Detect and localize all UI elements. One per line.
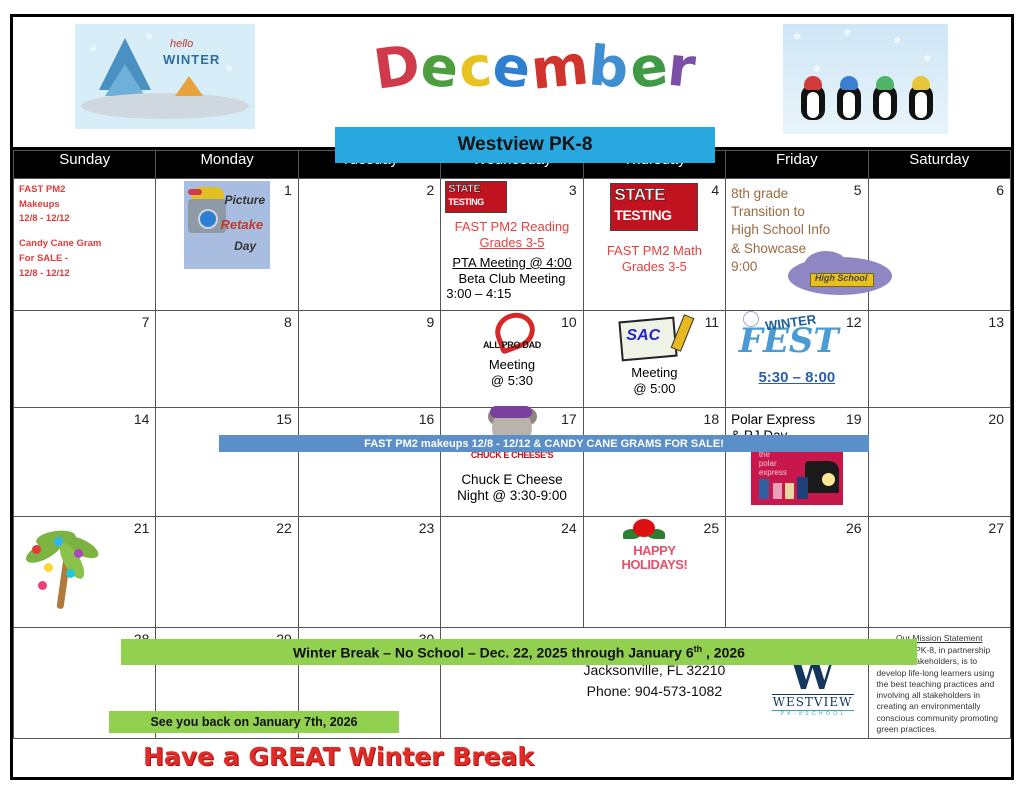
day-number: 11	[705, 314, 720, 330]
calendar-banner: hello WINTER ✳ ✳ ✳ December ❄ ❄ ❄ ❄ ❄	[13, 17, 1011, 150]
hello-winter-text-2: WINTER	[163, 52, 220, 67]
day-number: 9	[426, 314, 434, 330]
event-sac-meeting: Meeting	[589, 365, 720, 381]
day-cell-4[interactable]: 4 STATE TESTING FAST PM2 Math Grades 3-5	[583, 179, 725, 311]
day-cell-5[interactable]: 5 8th grade Transition to High School In…	[726, 179, 868, 311]
day-number: 2	[426, 182, 434, 198]
state-testing-line1: STATE	[448, 183, 480, 195]
state-testing-icon: STATE TESTING	[445, 181, 507, 213]
event-beta-club: Beta Club Meeting	[446, 271, 577, 287]
have-a-great-winter-break-text: Have a GREAT Winter Break	[143, 742, 534, 771]
day-cell-15[interactable]: 15	[156, 408, 298, 517]
state-testing-line2: TESTING	[448, 197, 484, 207]
day-cell-3[interactable]: 3 STATE TESTING FAST PM2 Reading Grades …	[441, 179, 583, 311]
sac-label: SAC	[626, 327, 660, 345]
day-number: 15	[276, 411, 292, 427]
state-testing-line1: STATE	[614, 185, 665, 205]
weekday-friday: Friday	[726, 151, 868, 179]
event-fast-reading-grades: Grades 3-5	[446, 235, 577, 251]
high-school-label: High School	[810, 273, 872, 283]
westview-logo-sub: P K - 8 S C H O O L	[772, 710, 854, 717]
day-cell-1[interactable]: 1 Picture Retake Day	[156, 179, 298, 311]
day-number: 18	[704, 411, 720, 427]
week-row-3: 14 15 16 17 CHUCK E CHEESE'S Chuck E Che…	[14, 408, 1011, 517]
day-cell-26[interactable]: 26	[726, 517, 868, 628]
week-row-4: 21 22	[14, 517, 1011, 628]
day-number: 13	[988, 314, 1004, 330]
day-number: 10	[561, 314, 577, 330]
weekday-sunday: Sunday	[14, 151, 156, 179]
weekday-saturday: Saturday	[868, 151, 1010, 179]
event-8th-grade-line3: High School Info	[731, 221, 862, 239]
day-number: 5	[854, 182, 862, 198]
happy-holidays-clipart: HAPPY HOLIDAYS!	[599, 517, 709, 579]
day-number: 3	[569, 182, 577, 198]
decorated-palm-tree-clipart	[20, 519, 106, 611]
day-number: 22	[276, 520, 292, 536]
day-number: 7	[142, 314, 150, 330]
day-cell-20[interactable]: 20	[868, 408, 1010, 517]
winter-fest-logo: FEST WINTER	[737, 311, 857, 369]
day-number: 4	[711, 182, 719, 198]
hello-winter-text-1: hello	[170, 38, 193, 50]
event-8th-grade-line1: 8th grade	[731, 185, 862, 203]
event-cec-line2: Night @ 3:30-9:00	[446, 488, 577, 504]
day-cell-13[interactable]: 13	[868, 311, 1010, 408]
green-banner-text: Winter Break – No School – Dec. 22, 2025…	[293, 644, 745, 661]
day-cell-6[interactable]: 6	[868, 179, 1010, 311]
day-number: 1	[284, 182, 292, 198]
event-pta-meeting: PTA Meeting @ 4:00	[446, 255, 577, 271]
day-number: 26	[846, 520, 862, 536]
day-number: 27	[988, 520, 1004, 536]
day-cell-notes[interactable]: FAST PM2 Makeups 12/8 - 12/12 Candy Cane…	[14, 179, 156, 311]
school-name-ribbon: Westview PK-8	[335, 127, 715, 163]
day-number: 8	[284, 314, 292, 330]
picday-line2: Retake	[220, 217, 263, 232]
day-number: 23	[419, 520, 435, 536]
december-title-art: December	[355, 35, 715, 130]
day-cell-19[interactable]: 19 Polar Express & PJ Day the polar expr…	[726, 408, 868, 517]
calendar-page: hello WINTER ✳ ✳ ✳ December ❄ ❄ ❄ ❄ ❄	[0, 0, 1024, 791]
day-cell-17[interactable]: 17 CHUCK E CHEESE'S Chuck E Cheese Night…	[441, 408, 583, 517]
sac-meeting-clipart: SAC	[618, 313, 690, 361]
day-cell-22[interactable]: 22	[156, 517, 298, 628]
day-cell-12[interactable]: 12 FEST WINTER 5:30 – 8:00	[726, 311, 868, 408]
week-row-1: FAST PM2 Makeups 12/8 - 12/12 Candy Cane…	[14, 179, 1011, 311]
all-pro-dad-icon: ALL PRO DAD	[477, 313, 547, 353]
penguins-clipart: ❄ ❄ ❄ ❄ ❄	[783, 24, 948, 134]
note-candy-line2: For SALE -	[19, 252, 150, 267]
day-cell-14[interactable]: 14	[14, 408, 156, 517]
day-cell-23[interactable]: 23	[298, 517, 440, 628]
note-fast-line3: 12/8 - 12/12	[19, 212, 150, 227]
event-fast-math: FAST PM2 Math	[589, 243, 720, 259]
event-beta-club-time: 3:00 – 4:15	[446, 286, 577, 302]
day-cell-8[interactable]: 8	[156, 311, 298, 408]
green-banner-return-date: See you back on January 7th, 2026	[109, 711, 399, 733]
all-pro-dad-label: ALL PRO DAD	[477, 340, 547, 350]
day-cell-9[interactable]: 9	[298, 311, 440, 408]
day-number: 16	[419, 411, 435, 427]
event-cec-line1: Chuck E Cheese	[446, 472, 577, 488]
note-fast-line1: FAST PM2	[19, 183, 150, 198]
day-cell-2[interactable]: 2	[298, 179, 440, 311]
note-fast-line2: Makeups	[19, 198, 150, 213]
westview-logo-name: WESTVIEW	[772, 694, 854, 709]
day-number: 6	[996, 182, 1004, 198]
picture-retake-day-clipart: Picture Retake Day	[184, 181, 270, 269]
day-cell-24[interactable]: 24	[441, 517, 583, 628]
day-cell-10[interactable]: 10 ALL PRO DAD Meeting @ 5:30	[441, 311, 583, 408]
note-candy-line3: 12/8 - 12/12	[19, 267, 150, 282]
weekday-monday: Monday	[156, 151, 298, 179]
picday-line3: Day	[234, 239, 256, 253]
day-cell-7[interactable]: 7	[14, 311, 156, 408]
day-number: 21	[134, 520, 150, 536]
polar-art-line3: express	[759, 468, 787, 477]
calendar-frame: hello WINTER ✳ ✳ ✳ December ❄ ❄ ❄ ❄ ❄	[10, 14, 1014, 780]
state-testing-line2: TESTING	[614, 207, 671, 223]
event-polar-line1: Polar Express	[731, 412, 843, 428]
event-winter-fest-time: 5:30 – 8:00	[758, 369, 835, 386]
day-number: 14	[134, 411, 150, 427]
day-cell-16[interactable]: 16	[298, 408, 440, 517]
happy-holidays-line1: HAPPY	[599, 543, 709, 558]
event-apd-meeting: Meeting	[446, 357, 577, 373]
green-banner-return-text: See you back on January 7th, 2026	[150, 715, 357, 729]
happy-holidays-line2: HOLIDAYS!	[599, 557, 709, 572]
note-candy-line1: Candy Cane Gram	[19, 237, 150, 252]
westview-logo: W WESTVIEW P K - 8 S C H O O L	[772, 658, 854, 732]
day-cell-11[interactable]: 11 SAC Meeting @ 5:00	[583, 311, 725, 408]
green-banner-winter-break: Winter Break – No School – Dec. 22, 2025…	[121, 639, 917, 665]
event-fast-reading: FAST PM2 Reading	[446, 219, 577, 235]
state-testing-icon: STATE TESTING	[610, 183, 698, 231]
event-fast-math-grades: Grades 3-5	[589, 259, 720, 275]
day-number: 19	[846, 411, 862, 427]
day-cell-18[interactable]: 18	[583, 408, 725, 517]
event-8th-grade-line2: Transition to	[731, 203, 862, 221]
polar-art-line2: polar	[759, 459, 777, 468]
school-name-text: Westview PK-8	[458, 134, 593, 156]
day-number: 17	[561, 411, 577, 427]
event-apd-time: @ 5:30	[446, 373, 577, 389]
day-cell-21[interactable]: 21	[14, 517, 156, 628]
blue-banner-text: FAST PM2 makeups 12/8 - 12/12 & CANDY CA…	[364, 438, 724, 450]
picday-line1: Picture	[224, 193, 265, 207]
polar-express-clipart: the polar express	[751, 445, 843, 505]
hello-winter-clipart: hello WINTER ✳ ✳ ✳	[75, 24, 255, 129]
event-sac-time: @ 5:00	[589, 381, 720, 397]
blue-banner-fast-makeups: FAST PM2 makeups 12/8 - 12/12 & CANDY CA…	[219, 435, 869, 452]
day-number: 20	[988, 411, 1004, 427]
week-row-2: 7 8 9 10 ALL PRO DAD Meeting @ 5:3	[14, 311, 1011, 408]
day-number: 24	[561, 520, 577, 536]
day-cell-27[interactable]: 27	[868, 517, 1010, 628]
day-cell-25[interactable]: 25 HAPPY HOLIDAYS!	[583, 517, 725, 628]
